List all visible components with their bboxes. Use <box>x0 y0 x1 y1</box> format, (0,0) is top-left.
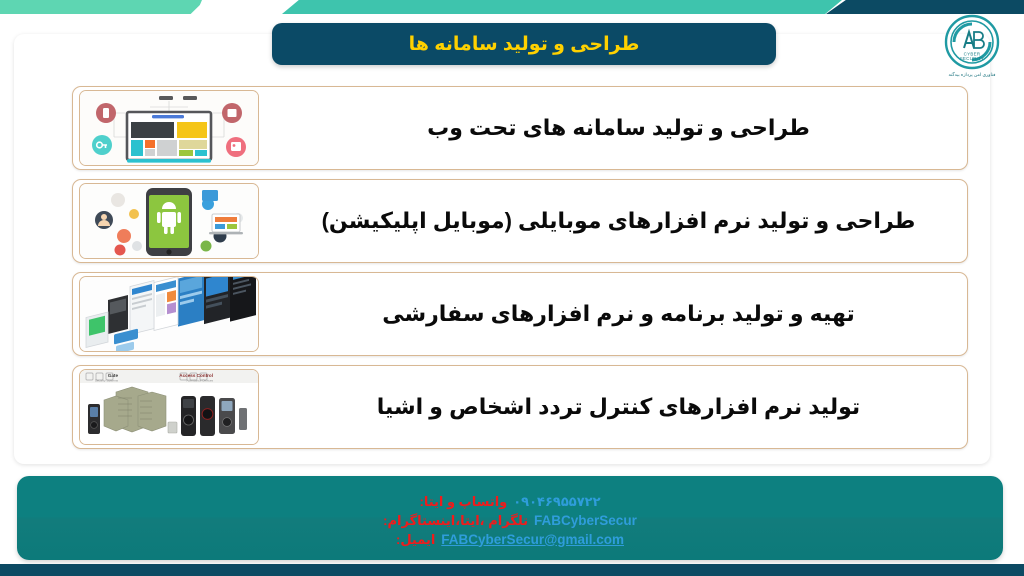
contact-row-telegram: FABCyberSecur تلگرام ،ایتا،اینستاگرام: <box>383 511 637 530</box>
list-item-label: طراحی و تولید نرم افزارهای موبایلی (موبا… <box>264 206 967 236</box>
list-item-label: تولید نرم افزارهای کنترل تردد اشخاص و اش… <box>264 392 967 422</box>
contact-value-telegram[interactable]: FABCyberSecur <box>534 511 637 530</box>
list-item[interactable]: طراحی و تولید نرم افزارهای موبایلی (موبا… <box>72 179 968 263</box>
contact-label-whatsapp: واتساپ و ایتا: <box>419 492 507 511</box>
top-bar-segment-teal <box>282 0 842 14</box>
contact-value-phone[interactable]: ۰۹۰۴۶۹۵۵۷۲۲ <box>513 492 600 511</box>
slide-root: طراحی و تولید سامانه ها CYBER SECURITY ف… <box>0 0 1024 576</box>
top-decoration-bar <box>0 0 1024 14</box>
contact-value-email[interactable]: FABCyberSecur@gmail.com <box>441 530 624 549</box>
company-logo: CYBER SECURITY فناوری امن پردازه بیدگنه <box>936 14 1008 88</box>
svg-text:Access Control: Access Control <box>179 373 213 378</box>
contact-label-telegram: تلگرام ،ایتا،اینستاگرام: <box>383 511 528 530</box>
top-bar-segment-mint <box>0 0 205 14</box>
svg-text:SECURITY: SECURITY <box>960 56 985 61</box>
list-item-label: تهیه و تولید برنامه و نرم افزارهای سفارش… <box>264 299 967 329</box>
page-title: طراحی و تولید سامانه ها <box>409 33 640 56</box>
svg-text:Security Systems: Security Systems <box>95 378 119 382</box>
access-control-devices-illustration-icon: Gate Security Systems Access Control Att… <box>79 369 259 445</box>
contact-label-email: ایمیل: <box>396 530 435 549</box>
footer-contact-band: ۰۹۰۴۶۹۵۵۷۲۲ واتساپ و ایتا: FABCyberSecur… <box>17 476 1003 560</box>
list-item[interactable]: طراحی و تولید سامانه های تحت وب <box>72 86 968 170</box>
service-list: طراحی و تولید سامانه های تحت وب <box>72 86 968 458</box>
contact-row-email: FABCyberSecur@gmail.com ایمیل: <box>396 530 624 549</box>
logo-mark-icon: CYBER SECURITY <box>944 14 1000 70</box>
svg-text:Gate: Gate <box>108 373 119 378</box>
list-item[interactable]: تولید نرم افزارهای کنترل تردد اشخاص و اش… <box>72 365 968 449</box>
logo-subtitle: فناوری امن پردازه بیدگنه <box>949 72 996 78</box>
custom-software-screens-illustration-icon <box>79 276 259 352</box>
list-item[interactable]: تهیه و تولید برنامه و نرم افزارهای سفارش… <box>72 272 968 356</box>
mobile-app-android-illustration-icon <box>79 183 259 259</box>
top-bar-segment-gap <box>196 0 296 14</box>
web-systems-illustration-icon <box>79 90 259 166</box>
list-item-label: طراحی و تولید سامانه های تحت وب <box>264 113 967 143</box>
page-title-banner: طراحی و تولید سامانه ها <box>272 23 776 65</box>
top-bar-segment-navy <box>826 0 1024 14</box>
contact-row-whatsapp: ۰۹۰۴۶۹۵۵۷۲۲ واتساپ و ایتا: <box>419 492 600 511</box>
svg-text:Attendance Devices: Attendance Devices <box>186 378 213 382</box>
bottom-accent-strip <box>0 564 1024 576</box>
